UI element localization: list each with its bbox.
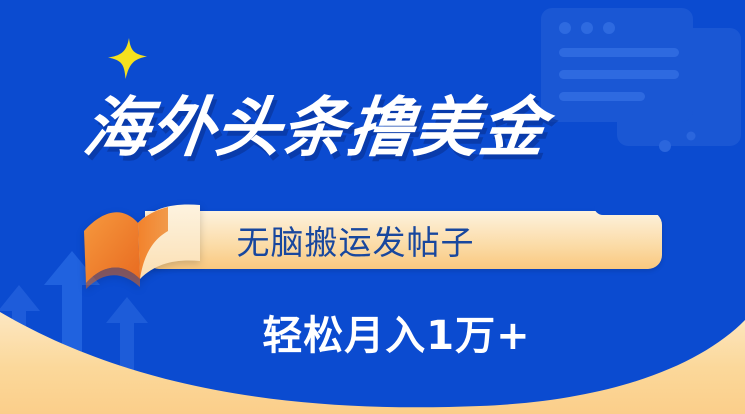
browser-window-cards-icon [525, 0, 745, 200]
page-title: 海外头条撸美金 [80, 96, 550, 161]
ribbon-label: 无脑搬运发帖子 [145, 211, 662, 269]
sub-headline: 轻松月入1万+ [0, 303, 745, 361]
ribbon-banner: 无脑搬运发帖子 [145, 211, 662, 269]
sparkle-star-icon [108, 38, 148, 80]
poster-canvas: 海外头条撸美金 无脑搬运发帖子 [0, 0, 745, 414]
open-book-icon [76, 197, 204, 295]
